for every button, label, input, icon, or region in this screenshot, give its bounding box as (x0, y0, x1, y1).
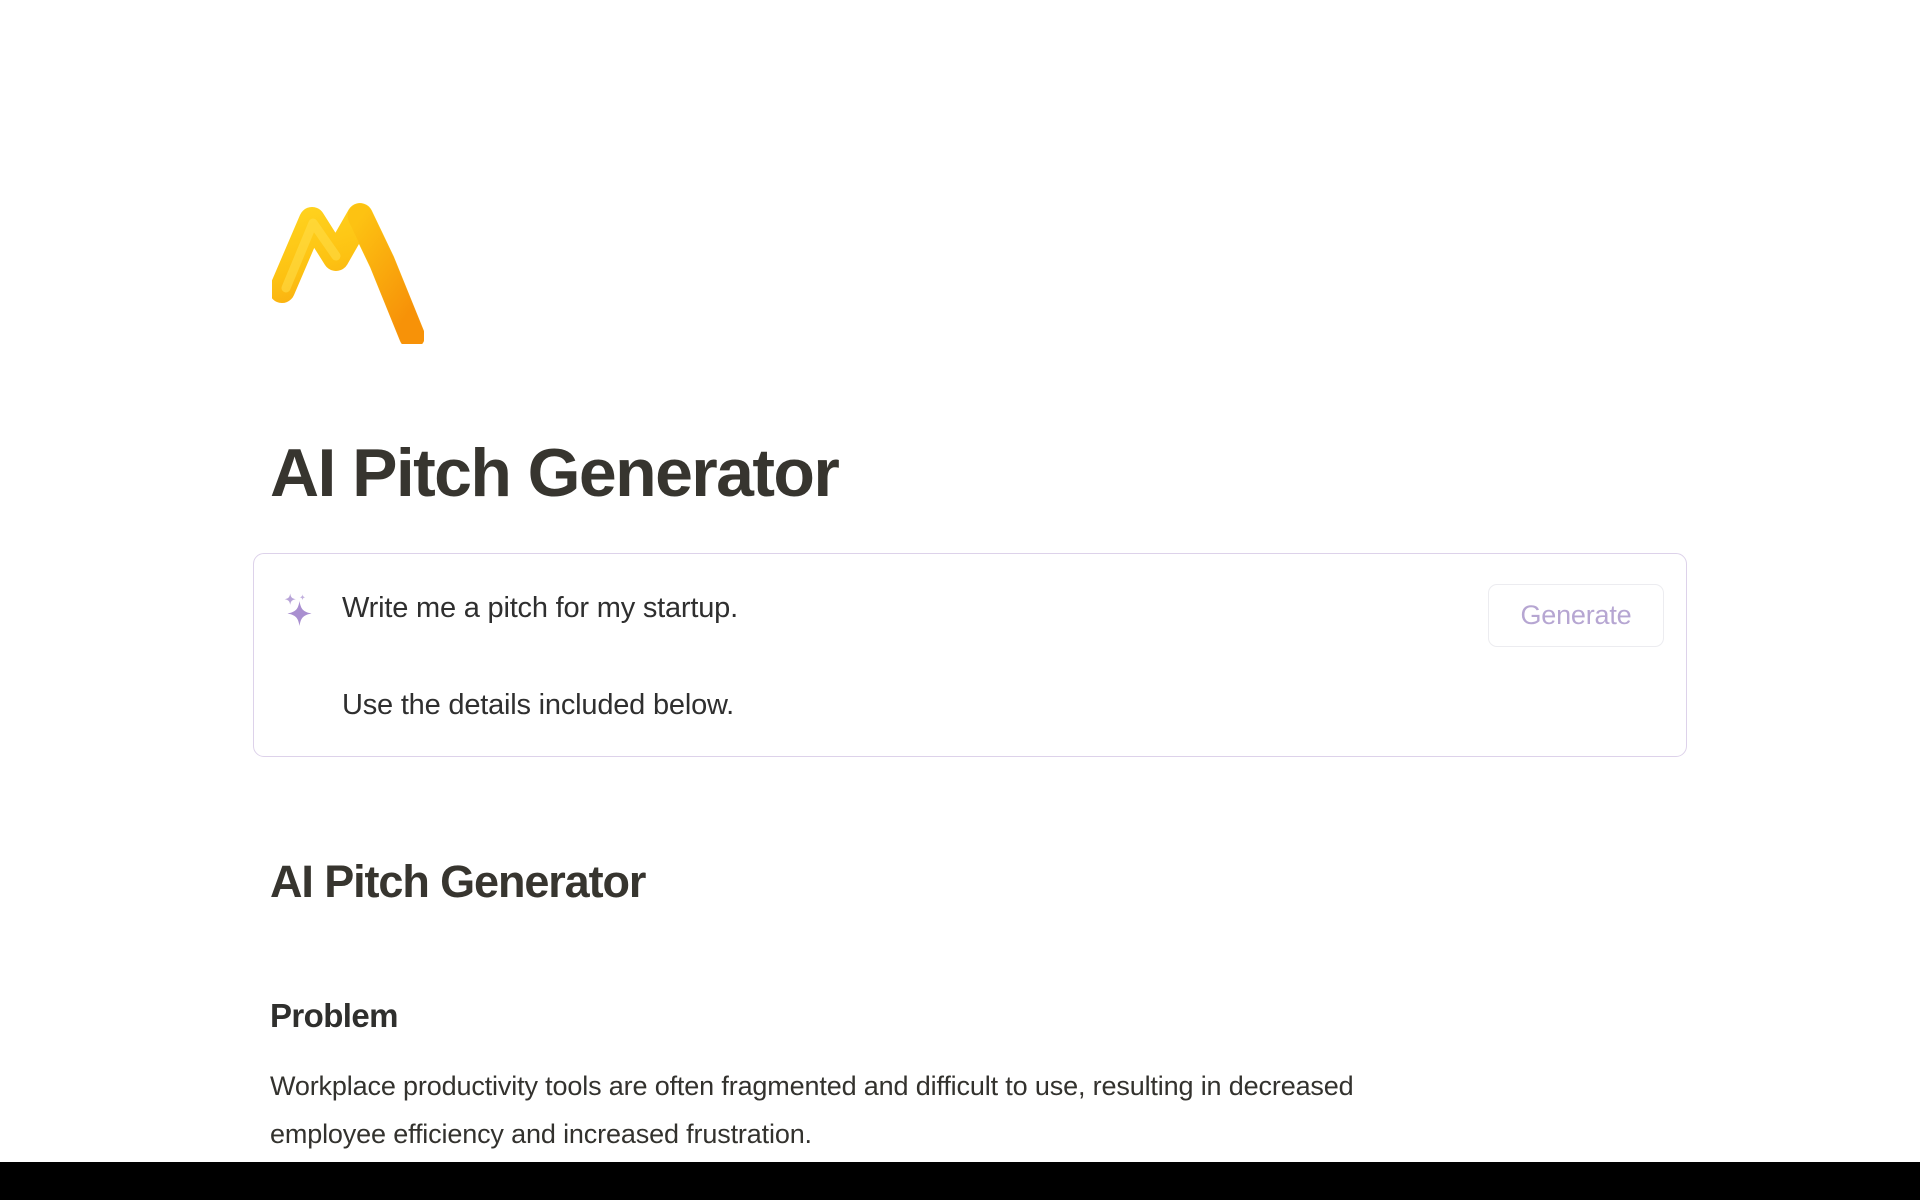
paragraph-line: employee efficiency and increased frustr… (270, 1110, 1670, 1158)
section-heading-problem: Problem (270, 995, 398, 1036)
app-page: AI Pitch Generator Write me a pitch for … (0, 0, 1920, 1200)
bottom-bar (0, 1162, 1920, 1200)
document-title: AI Pitch Generator (270, 855, 645, 909)
page-title: AI Pitch Generator (270, 435, 838, 511)
ai-prompt-box[interactable]: Write me a pitch for my startup. Use the… (253, 553, 1687, 757)
section-body-problem: Workplace productivity tools are often f… (270, 1062, 1670, 1158)
generate-button[interactable]: Generate (1488, 584, 1664, 647)
prompt-first-row: Write me a pitch for my startup. (282, 588, 1658, 630)
prompt-text-line-2[interactable]: Use the details included below. (342, 685, 734, 725)
paragraph-line: Workplace productivity tools are often f… (270, 1062, 1670, 1110)
squiggle-m-logo-icon (272, 196, 424, 344)
sparkle-icon (282, 592, 316, 630)
prompt-text-line-1[interactable]: Write me a pitch for my startup. (342, 588, 738, 628)
